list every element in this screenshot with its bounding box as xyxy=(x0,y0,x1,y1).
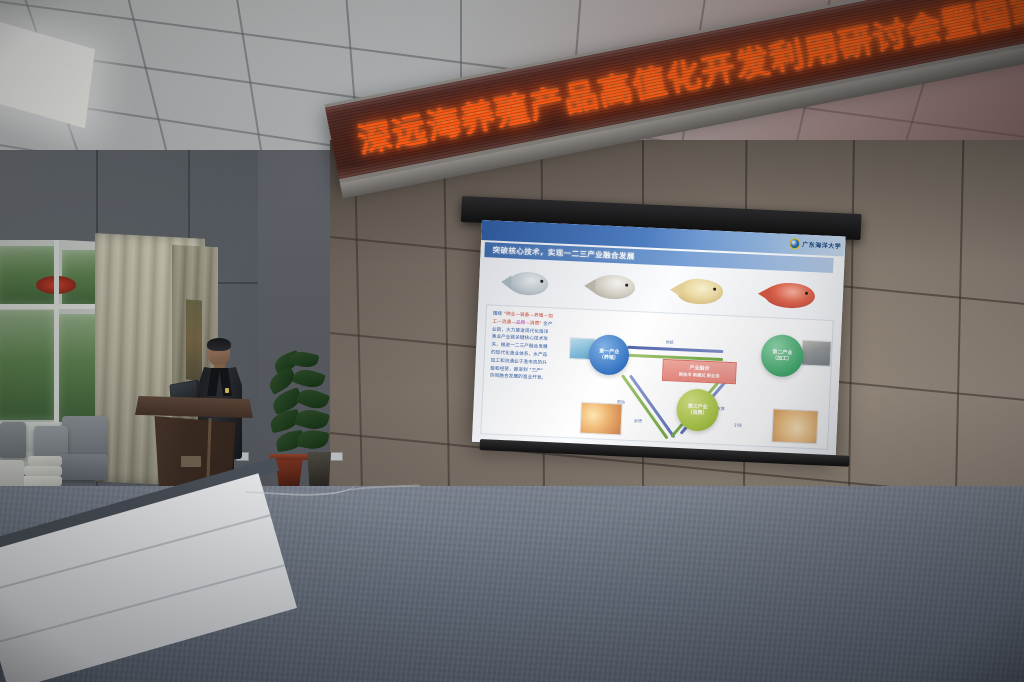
chair-back-3[interactable] xyxy=(0,422,26,458)
fish-image-4 xyxy=(765,281,816,308)
diagram-node-primary-industry: 第一产业 （养殖） xyxy=(588,334,630,376)
presenter-badge xyxy=(225,388,229,393)
arrow-label-3: 带动 xyxy=(617,399,625,405)
node1-line2: （养殖） xyxy=(599,354,619,361)
chair-back-1[interactable] xyxy=(62,416,108,458)
node2-line2: （加工） xyxy=(772,355,792,362)
seafood-dish-photo-1 xyxy=(579,402,622,436)
conference-room-scene: 深远海养殖产品高值化开发利用研讨会暨国家海水鱼体系加工研究室2025年会 广东海… xyxy=(0,0,1024,682)
diagram-center-box: 产业融合 新技术 新模式 新业态 xyxy=(662,358,737,384)
presentation-slide: 广东海洋大学 突破核心技术，实现一二三产业融合发展 xyxy=(472,220,846,458)
diagram-node-tertiary-industry: 第三产业 （消费） xyxy=(676,388,720,432)
projection-screen: 广东海洋大学 突破核心技术，实现一二三产业融合发展 xyxy=(462,196,862,476)
chair-stack-bar-1 xyxy=(28,456,62,466)
chair-stack-bar-3 xyxy=(20,476,62,486)
fish-image-2 xyxy=(590,274,635,300)
arrow-node1-to-node3 xyxy=(621,374,669,439)
processing-plant-photo xyxy=(801,340,832,367)
chair-stack-bar-2 xyxy=(24,466,62,476)
chair-seat-1[interactable] xyxy=(56,454,108,480)
node3-line2: （消费） xyxy=(687,410,707,417)
arrow-node1-to-node2 xyxy=(627,346,723,354)
presenter-hair xyxy=(207,338,231,351)
lectern-emblem xyxy=(181,456,201,467)
screen-surface: 广东海洋大学 突破核心技术，实现一二三产业融合发展 xyxy=(472,220,846,458)
arrow-label-4: 反馈 xyxy=(634,418,642,424)
window-mullion-h xyxy=(0,304,109,309)
slide-title-text: 突破核心技术，实现一二三产业融合发展 xyxy=(492,245,635,262)
seafood-dish-photo-2 xyxy=(771,408,818,444)
text-line: 协同融合发展的渔业开发。 xyxy=(490,374,562,383)
university-emblem-icon xyxy=(789,238,800,249)
center-box-subtitle: 新技术 新模式 新业态 xyxy=(666,371,732,379)
diagram-node-secondary-industry: 第二产业 （加工） xyxy=(760,334,804,378)
slide-text-block: 围绕 "种业—装备—养殖—加 工—流通—品牌—消费" 全产 业链，大力推进现代化… xyxy=(486,309,567,432)
lectern-top xyxy=(135,396,253,418)
window-pane-1 xyxy=(0,246,58,304)
arrow-label-1: 供给 xyxy=(665,339,673,345)
university-logo: 广东海洋大学 xyxy=(789,236,842,253)
fish-image-3 xyxy=(676,277,723,304)
slide-body: 围绕 "种业—装备—养殖—加 工—流通—品牌—消费" 全产 业链，大力推进现代化… xyxy=(480,304,834,450)
arrow-node3-to-node1 xyxy=(629,375,676,439)
arrow-label-6: 引导 xyxy=(734,423,742,429)
industry-triangle-diagram: 供给 需求 带动 反馈 支撑 引导 第一产业 （养殖） 第二产业 （加工） xyxy=(567,311,830,447)
university-name: 广东海洋大学 xyxy=(802,240,841,251)
fish-image-1 xyxy=(508,271,549,296)
